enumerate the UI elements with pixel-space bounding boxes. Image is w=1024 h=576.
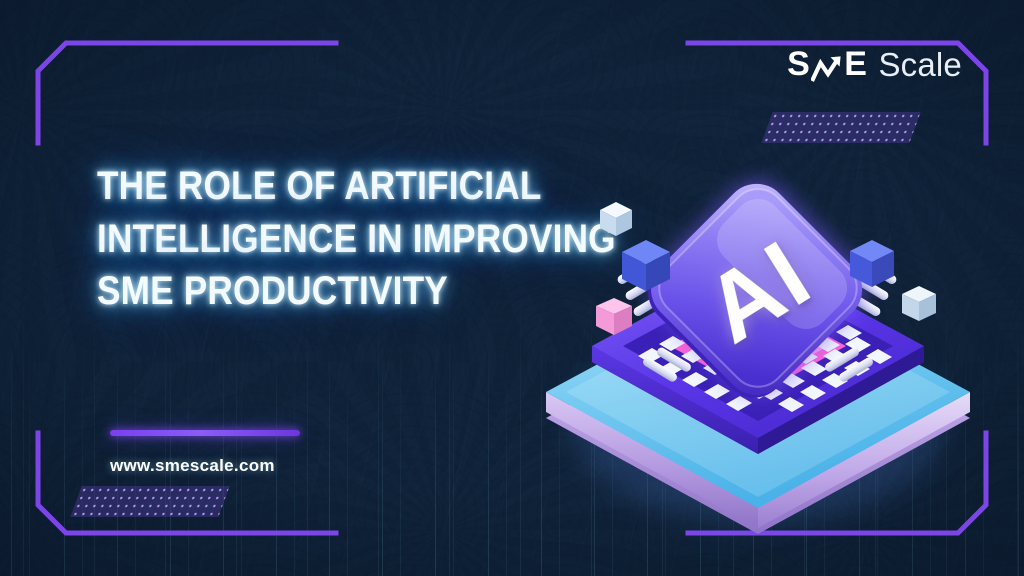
- banner-root: S E Scale THE ROLE OF ARTIFICIAL INTELLI…: [0, 0, 1024, 576]
- logo-wordmark: Scale: [878, 48, 962, 81]
- logo-mark: S E: [787, 47, 867, 81]
- dot-parallelogram-top-right: [761, 112, 920, 143]
- dot-parallelogram-bottom-left: [70, 486, 229, 517]
- cube-white-left: [600, 202, 632, 236]
- footer-url-block: www.smescale.com: [110, 430, 300, 476]
- website-url[interactable]: www.smescale.com: [110, 456, 300, 476]
- logo-mark-prefix: S: [787, 47, 810, 81]
- headline-line-1: THE ROLE OF ARTIFICIAL: [97, 160, 555, 213]
- brand-logo[interactable]: S E Scale: [787, 41, 962, 87]
- headline-line-3: SME PRODUCTIVITY: [97, 265, 555, 318]
- url-accent-rule: [110, 430, 300, 436]
- logo-mark-suffix: E: [844, 47, 867, 81]
- ai-chip-illustration: AI: [520, 160, 990, 550]
- page-title: THE ROLE OF ARTIFICIAL INTELLIGENCE IN I…: [97, 160, 555, 318]
- up-right-arrow-icon: [811, 55, 843, 81]
- headline-line-2: INTELLIGENCE IN IMPROVING: [97, 213, 555, 266]
- cube-white-right: [902, 286, 936, 321]
